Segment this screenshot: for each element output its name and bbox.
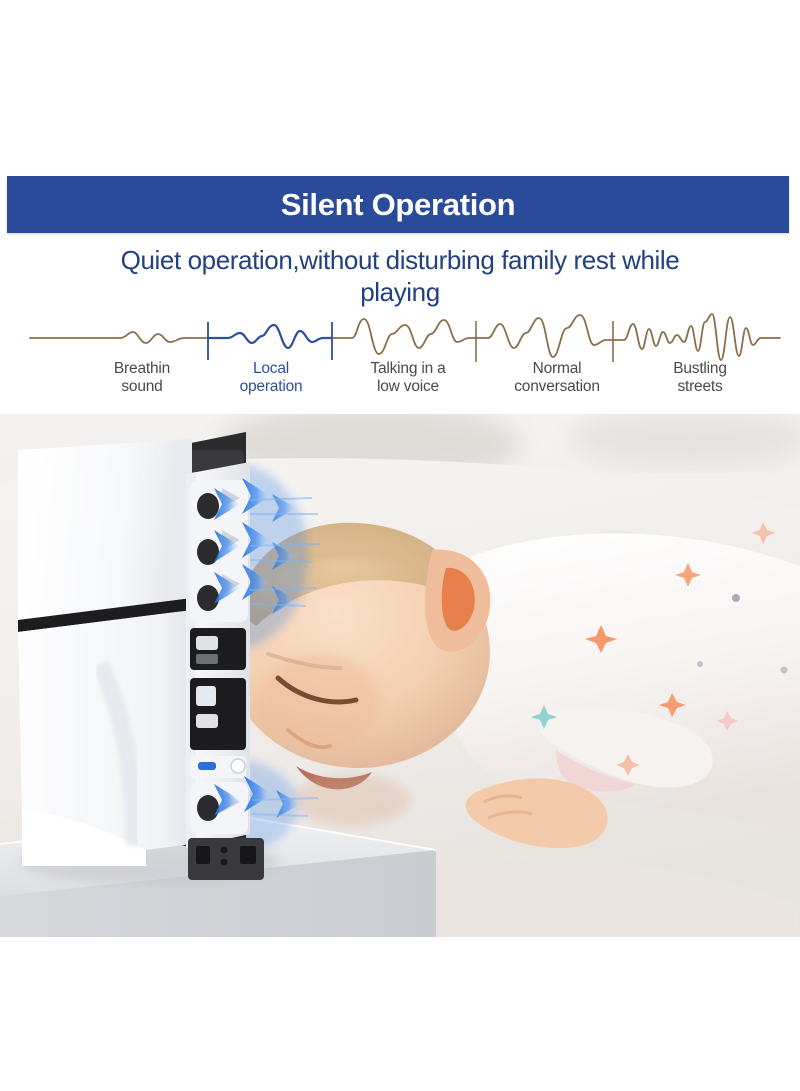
product-lifestyle-photo: [0, 414, 800, 937]
waveform-graphic: [0, 312, 800, 364]
subtitle-container: Quiet operation,without disturbing famil…: [0, 244, 800, 308]
waveform-breathing-path: [30, 332, 208, 343]
sleeping-baby: [226, 522, 800, 848]
baby-cheek: [256, 654, 380, 750]
console-upper-panel: [18, 440, 178, 620]
scale-label-low-voice: Talking in a low voice: [343, 360, 473, 397]
photo-scene: [0, 414, 800, 937]
scale-label-breathing: Breathin sound: [82, 360, 202, 397]
feature-subtitle: Quiet operation,without disturbing famil…: [95, 244, 705, 308]
noise-level-scale: Breathin sound Local operation Talking i…: [0, 312, 800, 414]
waveform-speech-path: [332, 314, 780, 360]
scale-label-normal-conversation: Normal conversation: [487, 360, 627, 397]
scale-label-bustling-streets: Bustling streets: [640, 360, 760, 397]
console-power-base: [188, 838, 264, 880]
product-feature-card: Silent Operation Quiet operation,without…: [0, 0, 800, 1091]
baby-chin-shadow: [294, 774, 410, 826]
feature-banner: Silent Operation: [7, 176, 789, 233]
scale-label-local-operation: Local operation: [211, 360, 331, 397]
page-title: Silent Operation: [281, 189, 516, 220]
waveform-local-operation-path: [208, 325, 332, 348]
scale-label-row: Breathin sound Local operation Talking i…: [0, 360, 800, 414]
top-margin: [0, 0, 800, 176]
bottom-margin: [0, 937, 800, 1091]
